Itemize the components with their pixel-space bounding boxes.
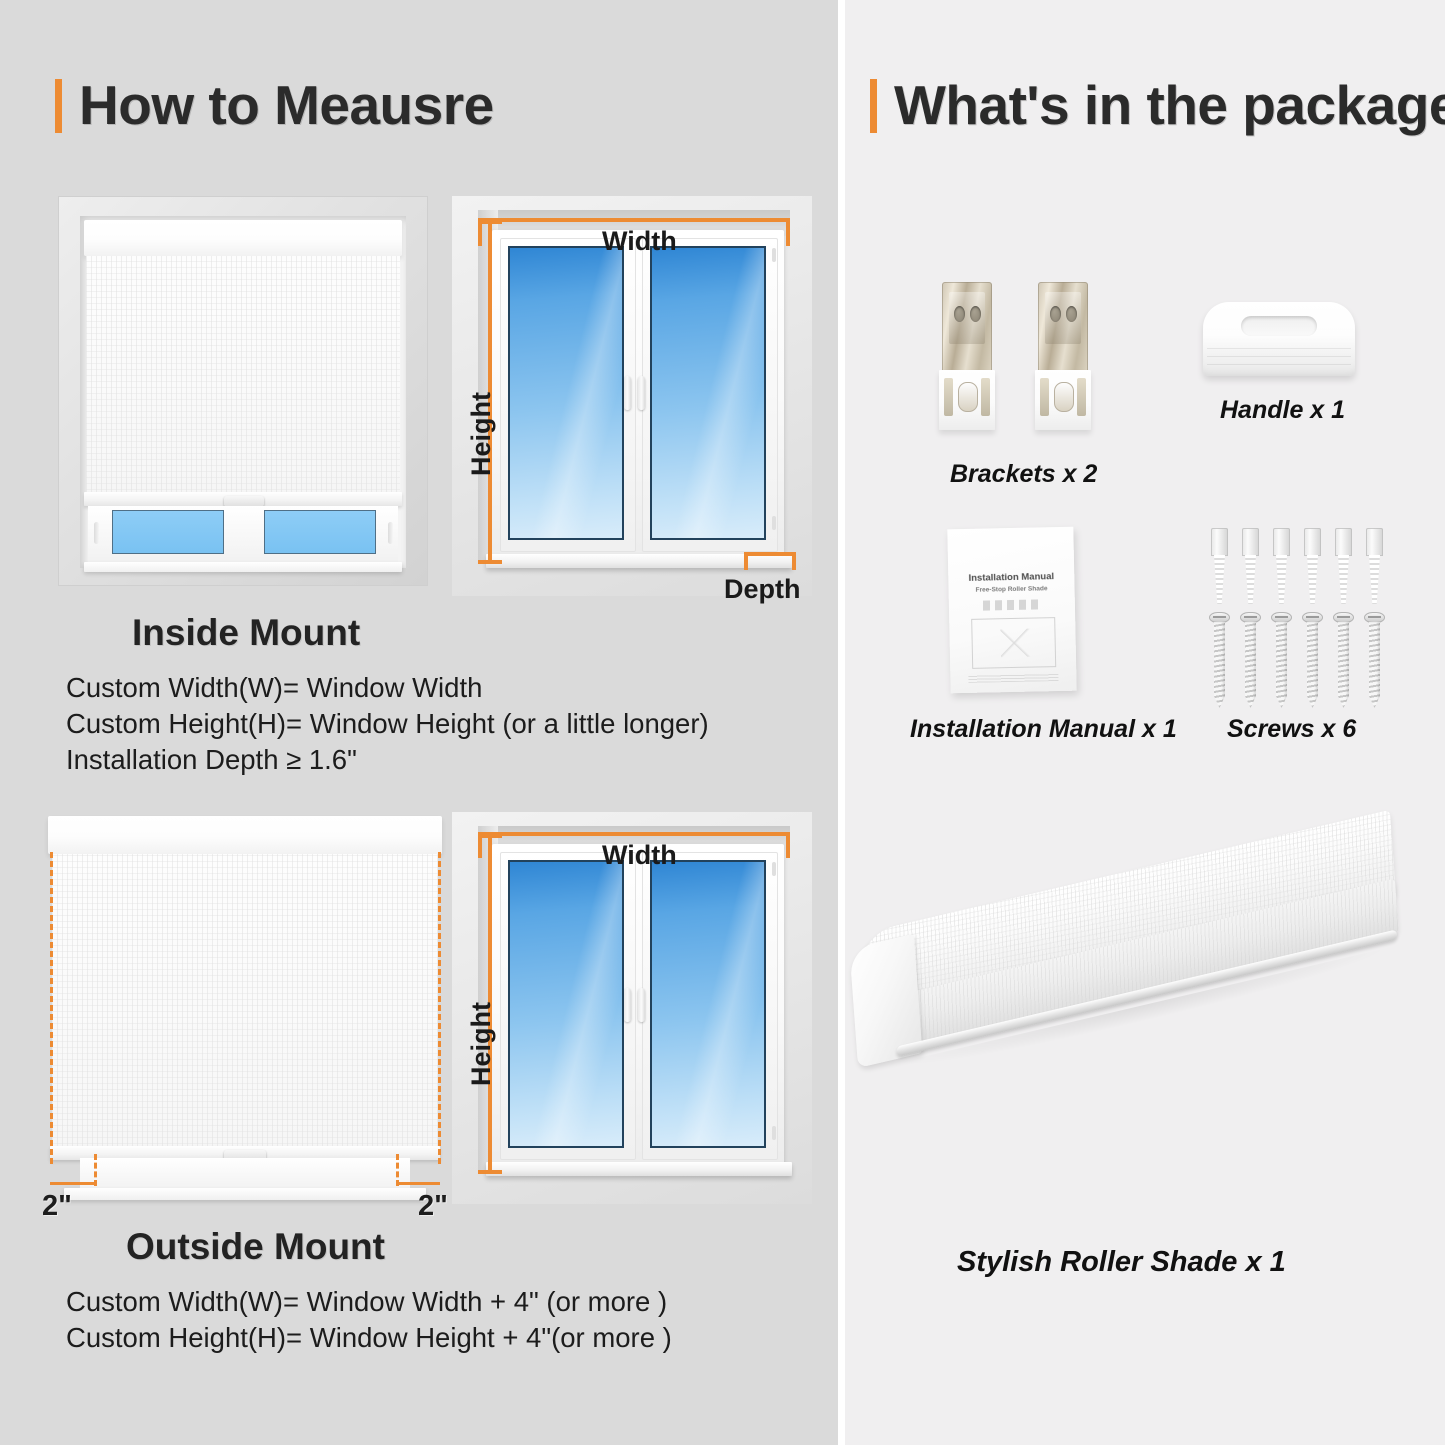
depth-measure-tick-right xyxy=(792,552,796,570)
accent-bar-icon xyxy=(55,79,62,133)
window-glass-left xyxy=(508,860,624,1148)
bracket-slot-left xyxy=(944,378,953,416)
window-handle-right-icon xyxy=(388,522,393,544)
screws-label: Screws x 6 xyxy=(1227,715,1356,744)
manual-cover-footer-lines xyxy=(968,673,1058,683)
screw-shaft xyxy=(1369,622,1380,708)
inside-mount-spec-lines: Custom Width(W)= Window Width Custom Hei… xyxy=(66,670,709,778)
inside-mount-line-3: Installation Depth ≥ 1.6" xyxy=(66,742,709,778)
inside-mount-title: Inside Mount xyxy=(132,612,360,654)
roller-shade-label: Stylish Roller Shade x 1 xyxy=(957,1246,1286,1279)
how-to-measure-heading: How to Meausre xyxy=(55,78,494,133)
wall-anchor-icon-1 xyxy=(1211,528,1228,604)
outside-mount-line-1: Custom Width(W)= Window Width + 4" (or m… xyxy=(66,1284,672,1320)
wall-anchor-icon-3 xyxy=(1273,528,1290,604)
anchor-head xyxy=(1211,528,1228,556)
inside-mount-line-1: Custom Width(W)= Window Width xyxy=(66,670,709,706)
handle-grip-slot xyxy=(1241,316,1317,336)
overhang-arrow-left xyxy=(50,1182,96,1185)
shade-fabric xyxy=(52,854,438,1150)
screw-icon-1 xyxy=(1212,612,1227,708)
window-glass-right xyxy=(650,246,766,540)
screw-icon-3 xyxy=(1274,612,1289,708)
outside-mount-title: Outside Mount xyxy=(126,1226,385,1268)
package-contents-panel: What's in the package Brackets x 2 xyxy=(845,0,1445,1445)
window-sill xyxy=(84,562,402,572)
anchor-head xyxy=(1242,528,1259,556)
height-measure-tick-top xyxy=(478,220,502,224)
height-measure-tick-bottom xyxy=(478,560,502,564)
infographic-page: How to Meausre xyxy=(0,0,1445,1445)
anchor-body xyxy=(1338,555,1349,604)
screw-head xyxy=(1209,612,1230,623)
height-measure-tick-top xyxy=(478,834,502,838)
screw-head xyxy=(1302,612,1323,623)
bracket-metal xyxy=(1038,282,1088,378)
shade-fabric xyxy=(86,256,400,496)
bracket-metal xyxy=(942,282,992,378)
window-hinge-top-icon xyxy=(772,248,776,262)
installation-manual-label: Installation Manual x 1 xyxy=(910,715,1177,744)
anchor-head xyxy=(1273,528,1290,556)
bracket-icon-2 xyxy=(1035,282,1091,430)
manual-cover-title: Installation Manual xyxy=(948,571,1074,585)
height-label: Height xyxy=(466,392,497,476)
anchor-head xyxy=(1335,528,1352,556)
anchor-body xyxy=(1307,555,1318,604)
bracket-hole-2 xyxy=(1066,306,1077,322)
outside-mount-shade-illustration xyxy=(38,810,448,1210)
handle-ridge-3 xyxy=(1207,364,1351,365)
bracket-slot-right xyxy=(981,378,990,416)
width-measure-tick-right xyxy=(786,218,790,246)
handle-ridge-2 xyxy=(1207,356,1351,357)
width-label: Width xyxy=(602,840,677,871)
manual-cover-scribble xyxy=(983,599,1041,610)
wall-anchor-icon-2 xyxy=(1242,528,1259,604)
bracket-oval-hole xyxy=(958,382,978,412)
window-hinge-bottom-icon xyxy=(772,1126,776,1140)
roller-shade-product-image xyxy=(863,888,1423,1218)
inside-mount-window-diagram: Width Height Depth xyxy=(452,196,812,596)
package-heading: What's in the package xyxy=(870,78,1445,133)
window-handle-left-icon xyxy=(624,376,631,410)
window-glass-right xyxy=(650,860,766,1148)
outside-mount-spec-lines: Custom Width(W)= Window Width + 4" (or m… xyxy=(66,1284,672,1356)
window-handle-right-icon xyxy=(638,376,645,410)
screw-shaft xyxy=(1214,622,1225,708)
screw-head xyxy=(1333,612,1354,623)
anchor-body xyxy=(1369,555,1380,604)
screw-icon-5 xyxy=(1336,612,1351,708)
anchor-head xyxy=(1366,528,1383,556)
depth-label: Depth xyxy=(724,574,801,605)
width-measure-tick-right xyxy=(786,832,790,858)
how-to-measure-title: How to Meausre xyxy=(79,78,494,133)
wall-anchor-icon-6 xyxy=(1366,528,1383,604)
width-measure-line xyxy=(478,218,790,222)
roller-shade-body xyxy=(841,757,1408,1188)
window-hinge-bottom-icon xyxy=(772,516,776,530)
window-glass-left xyxy=(112,510,224,554)
screw-shaft xyxy=(1307,622,1318,708)
screw-head xyxy=(1240,612,1261,623)
window-handle-left-icon xyxy=(94,522,99,544)
bracket-icon-1 xyxy=(939,282,995,430)
how-to-measure-panel: How to Meausre xyxy=(0,0,838,1445)
window-sash xyxy=(80,1158,410,1192)
shade-valance xyxy=(84,220,402,256)
outside-mount-line-2: Custom Height(H)= Window Height + 4"(or … xyxy=(66,1320,672,1356)
bracket-hole-1 xyxy=(1050,306,1061,322)
depth-measure-tick-left xyxy=(744,552,748,570)
handle-icon xyxy=(1203,302,1355,376)
screw-icon-6 xyxy=(1367,612,1382,708)
bracket-oval-hole xyxy=(1054,382,1074,412)
screw-head xyxy=(1271,612,1292,623)
accent-bar-icon xyxy=(870,79,877,133)
anchor-body xyxy=(1245,555,1256,604)
anchor-body xyxy=(1276,555,1287,604)
manual-cover-diagram xyxy=(971,617,1056,669)
height-measure-tick-bottom xyxy=(478,1170,502,1174)
height-label: Height xyxy=(466,1002,497,1086)
inside-mount-shade-illustration xyxy=(58,196,428,586)
bracket-slot-right xyxy=(1077,378,1086,416)
overhang-label-left: 2" xyxy=(42,1190,72,1223)
window-handle-left-icon xyxy=(624,988,631,1022)
window-sill xyxy=(486,1162,792,1176)
outside-overhang-guide-left xyxy=(50,852,53,1164)
screw-icon-2 xyxy=(1243,612,1258,708)
package-title: What's in the package xyxy=(894,78,1445,133)
outside-overhang-guide-right xyxy=(438,852,441,1164)
depth-measure-line xyxy=(744,552,796,556)
inside-mount-line-2: Custom Height(H)= Window Height (or a li… xyxy=(66,706,709,742)
shade-valance xyxy=(48,816,442,854)
panel-divider xyxy=(838,0,845,1445)
brackets-label: Brackets x 2 xyxy=(950,460,1097,489)
window-glass-right xyxy=(264,510,376,554)
window-handle-right-icon xyxy=(638,988,645,1022)
overhang-label-right: 2" xyxy=(418,1190,448,1223)
overhang-arrow-right xyxy=(396,1182,440,1185)
screw-head xyxy=(1364,612,1385,623)
screw-shaft xyxy=(1338,622,1349,708)
screw-shaft xyxy=(1276,622,1287,708)
manual-cover-subtitle: Free-Stop Roller Shade xyxy=(949,585,1075,595)
width-label: Width xyxy=(602,226,677,257)
window-sill xyxy=(64,1188,426,1200)
bracket-hole-2 xyxy=(970,306,981,322)
screw-shaft xyxy=(1245,622,1256,708)
window-glass-left xyxy=(508,246,624,540)
wall-anchor-icon-4 xyxy=(1304,528,1321,604)
anchor-body xyxy=(1214,555,1225,604)
wall-anchor-icon-5 xyxy=(1335,528,1352,604)
handle-label: Handle x 1 xyxy=(1220,396,1345,425)
screw-icon-4 xyxy=(1305,612,1320,708)
installation-manual-icon: Installation Manual Free-Stop Roller Sha… xyxy=(947,527,1076,694)
anchor-head xyxy=(1304,528,1321,556)
bracket-slot-left xyxy=(1040,378,1049,416)
bracket-hole-1 xyxy=(954,306,965,322)
window-hinge-top-icon xyxy=(772,862,776,876)
handle-ridge-1 xyxy=(1207,348,1351,349)
outside-mount-window-diagram: Width Height xyxy=(452,812,812,1204)
width-measure-line xyxy=(478,832,790,836)
